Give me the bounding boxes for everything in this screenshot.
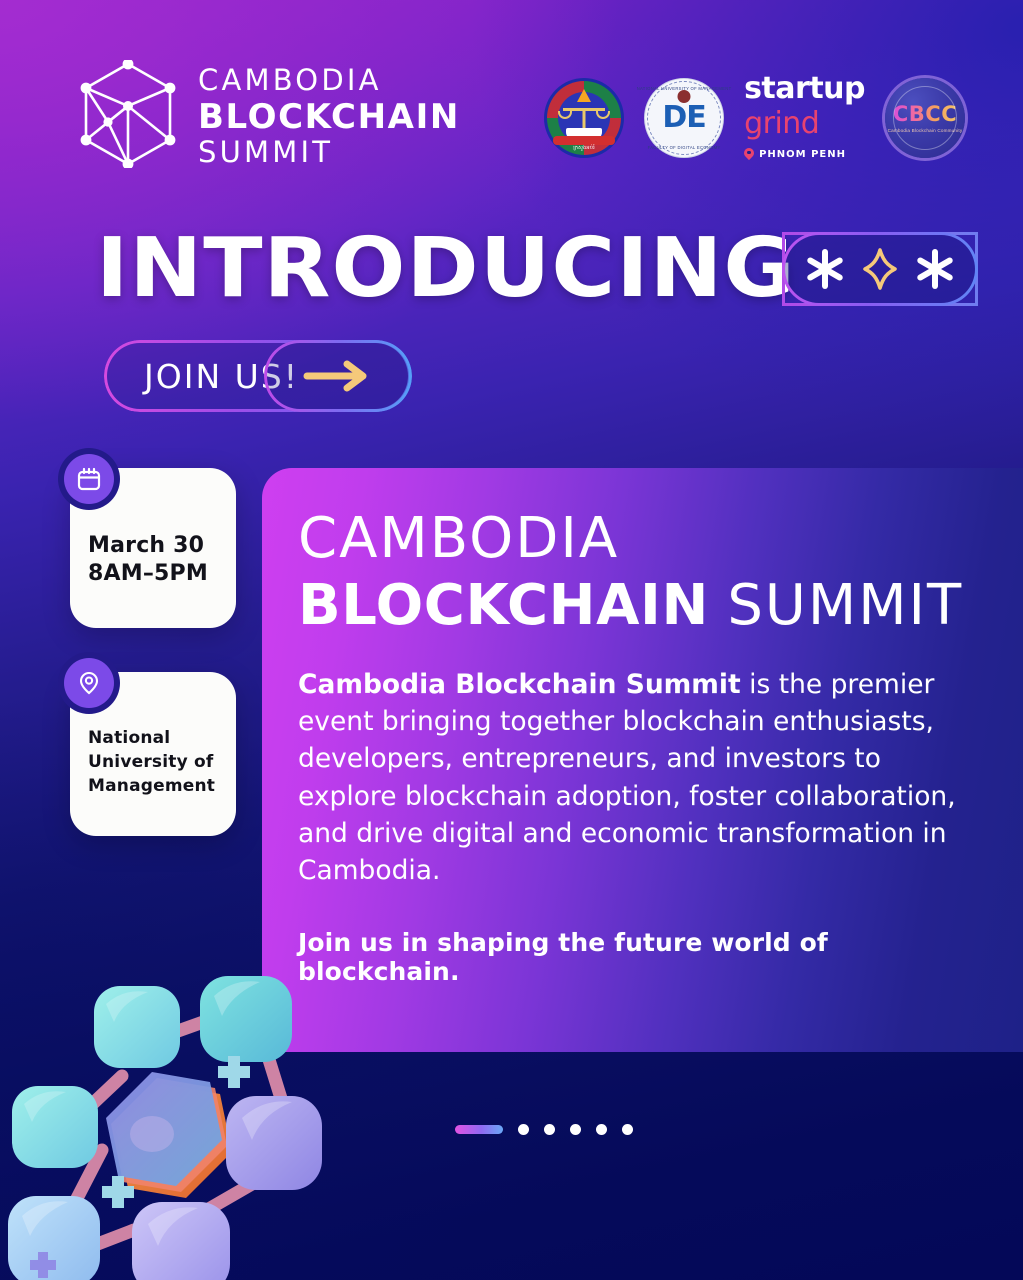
pagination-dot[interactable] [544, 1124, 555, 1135]
startup-grind-word-1: startup [744, 71, 865, 106]
panel-title-light: SUMMIT [727, 573, 963, 638]
cbcc-logo-icon: CBCC Cambodia Blockchain Community [885, 78, 965, 158]
num-faculty-logo-icon: NATIONAL UNIVERSITY OF MANAGEMENT DE FAC… [644, 78, 724, 158]
join-us-arrow-button[interactable] [264, 340, 412, 412]
sparkle-icon [805, 249, 845, 289]
event-date-card: March 30 8AM–5PM [70, 468, 236, 628]
cube-node [200, 976, 292, 1062]
summit-info-panel: CAMBODIA BLOCKCHAIN SUMMIT Cambodia Bloc… [262, 468, 1023, 1052]
pagination-dot[interactable] [518, 1124, 529, 1135]
pagination-dot[interactable] [622, 1124, 633, 1135]
cube-node [226, 1096, 322, 1190]
num-ring-bottom-text: FACULTY OF DIGITAL ECONOMY [648, 145, 721, 150]
panel-body-rest: is the premier event bringing together b… [298, 669, 956, 887]
cube-node [94, 986, 180, 1068]
panel-title-bold: BLOCKCHAIN [298, 573, 709, 638]
pagination-indicator[interactable] [455, 1124, 633, 1135]
poster-canvas: CAMBODIA BLOCKCHAIN SUMMIT ក្រសួងអប់រំ N… [0, 0, 1023, 1280]
brand-wordmark: CAMBODIA BLOCKCHAIN SUMMIT [198, 62, 460, 167]
brand-line-3: SUMMIT [198, 138, 460, 167]
num-ring-top-text: NATIONAL UNIVERSITY OF MANAGEMENT [637, 86, 732, 91]
startup-grind-word-2: grind [744, 106, 865, 141]
cube-node [132, 1202, 230, 1280]
startup-grind-chapter: PHNOM PENH [744, 148, 865, 161]
event-date-text: March 30 8AM–5PM [88, 532, 208, 588]
location-pin-icon [64, 658, 114, 708]
hero-headline-row: INTRODUCING [96, 228, 978, 310]
pagination-active-bar[interactable] [455, 1125, 503, 1134]
pagination-dot[interactable] [596, 1124, 607, 1135]
sparkle-icon [915, 249, 955, 289]
chapter-label: PHNOM PENH [759, 149, 846, 160]
panel-body-lead: Cambodia Blockchain Summit [298, 669, 741, 700]
location-pin-icon [744, 148, 754, 161]
event-venue-text: National University of Management [88, 726, 215, 798]
panel-title-main: BLOCKCHAIN SUMMIT [298, 577, 965, 636]
join-us-pill[interactable]: JOIN US! [104, 340, 411, 412]
hexagon-network-icon [78, 60, 178, 168]
cube-node [12, 1086, 98, 1168]
header: CAMBODIA BLOCKCHAIN SUMMIT ក្រសួងអប់រំ N… [0, 55, 1023, 180]
partner-logos: ក្រសួងអប់រំ NATIONAL UNIVERSITY OF MANAG… [544, 55, 965, 180]
event-venue-card: National University of Management [70, 672, 236, 836]
hero-decoration-badge [782, 232, 978, 306]
panel-body-text: Cambodia Blockchain Summit is the premie… [298, 666, 958, 890]
ministry-emblem-icon: ក្រសួងអប់រំ [544, 78, 624, 158]
diamond-icon [861, 247, 899, 291]
panel-title-top: CAMBODIA [298, 510, 965, 569]
startup-grind-logo-icon: startup grind PHNOM PENH [744, 71, 865, 165]
page-title: INTRODUCING [96, 228, 796, 310]
blockchain-3d-illustration [0, 958, 366, 1280]
pagination-dot[interactable] [570, 1124, 581, 1135]
join-us-cta[interactable]: JOIN US! [104, 340, 411, 412]
brand-lockup: CAMBODIA BLOCKCHAIN SUMMIT [78, 60, 460, 168]
brand-line-2: BLOCKCHAIN [198, 100, 460, 134]
brand-line-1: CAMBODIA [198, 66, 460, 95]
panel-cta-text: Join us in shaping the future world of b… [298, 928, 965, 986]
calendar-icon [64, 454, 114, 504]
arrow-right-icon [303, 359, 373, 393]
ministry-khmer-label: ក្រសួងអប់រំ [573, 145, 595, 152]
